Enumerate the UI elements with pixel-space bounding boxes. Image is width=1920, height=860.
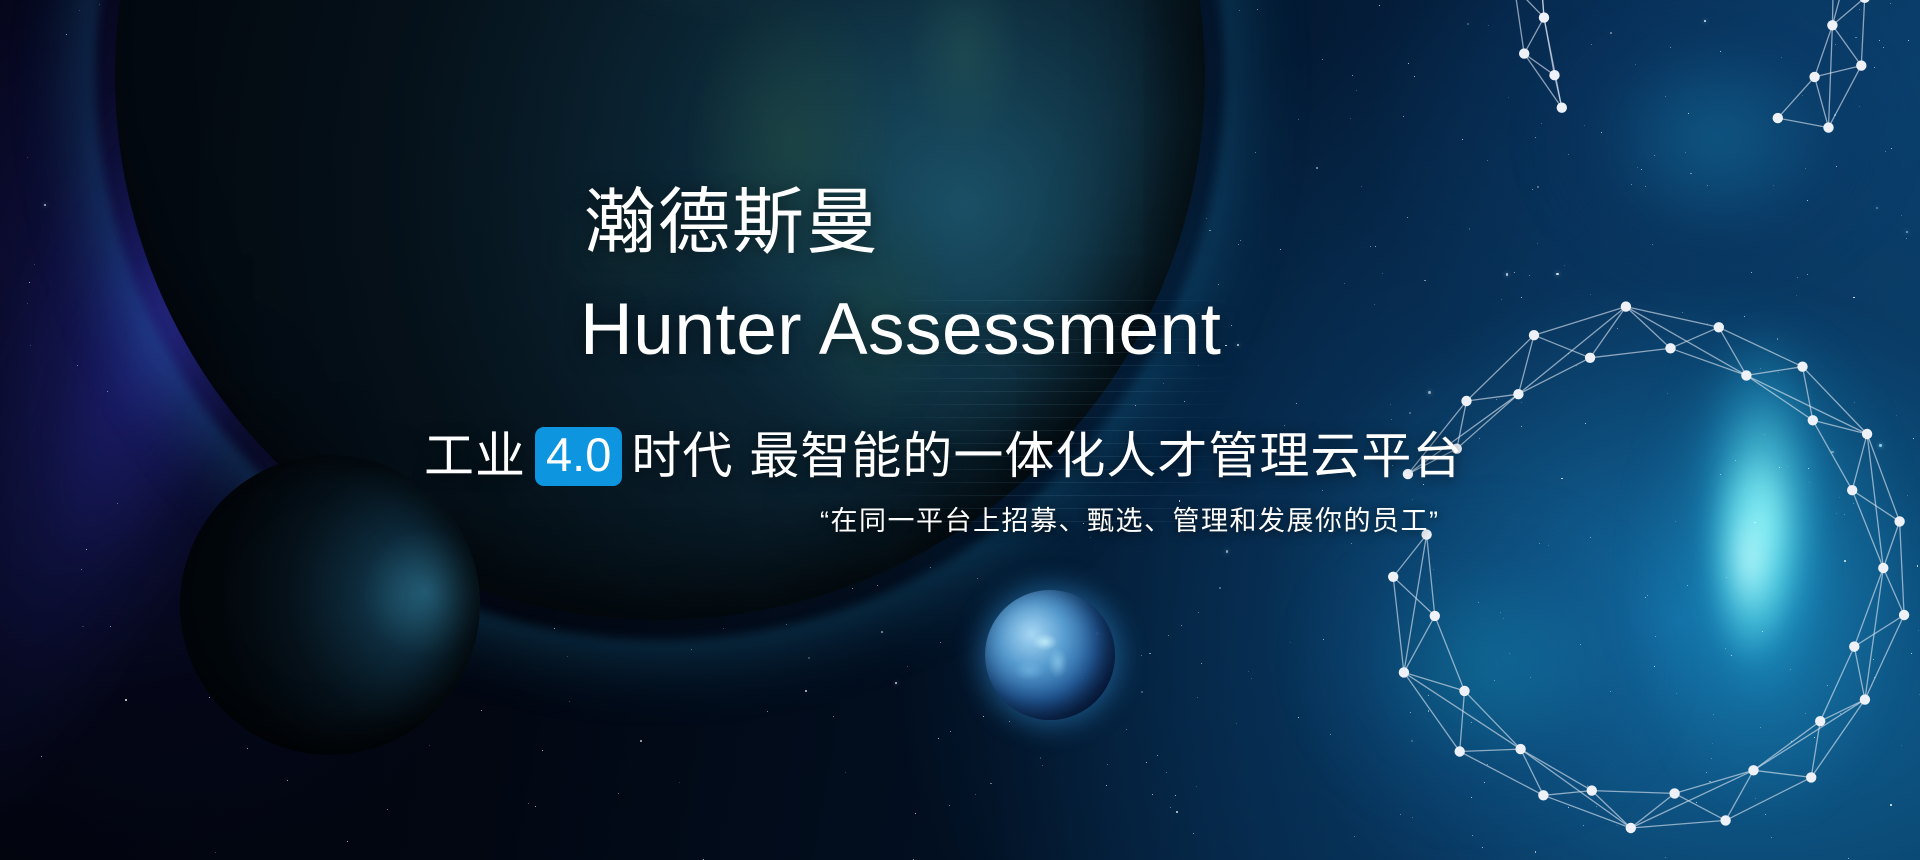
- tagline-era: 时代: [631, 431, 733, 481]
- hero-subtitle-quote: “在同一平台上招募、甄选、管理和发展你的员工”: [820, 508, 1439, 535]
- tagline-prefix: 工业: [424, 431, 526, 481]
- hero-banner: 瀚德斯曼 Hunter Assessment 工业 4.0 时代 最智能的一体化…: [0, 0, 1920, 860]
- industry-version-badge: 4.0: [535, 427, 622, 486]
- tagline-suffix: 最智能的一体化人才管理云平台: [749, 431, 1463, 481]
- page-title-chinese: 瀚德斯曼: [584, 187, 880, 259]
- tagline: 工业 4.0 时代 最智能的一体化人才管理云平台: [424, 426, 1463, 486]
- page-title-english: Hunter Assessment: [580, 293, 1221, 366]
- hero-text-block: 瀚德斯曼 Hunter Assessment 工业 4.0 时代 最智能的一体化…: [0, 0, 1920, 860]
